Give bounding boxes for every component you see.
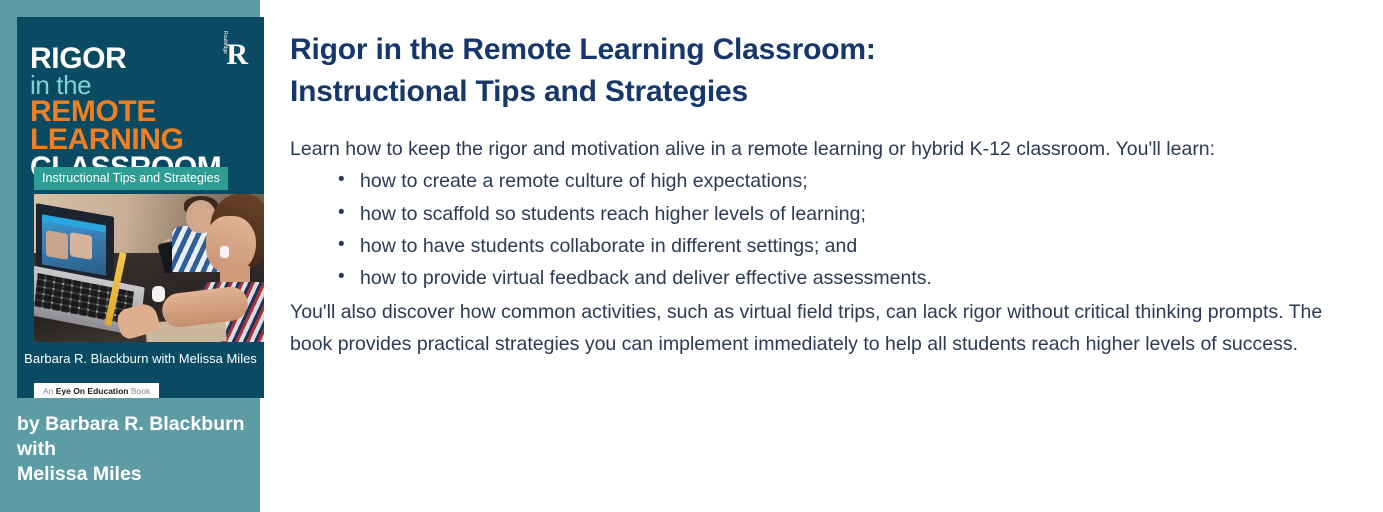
photo-loose-earbud bbox=[152, 286, 165, 302]
photo-girl-earbud bbox=[220, 246, 229, 258]
book-cover-image: R Routledge RIGOR in the REMOTE LEARNING… bbox=[17, 17, 264, 398]
cover-title-block: RIGOR in the REMOTE LEARNING CLASSROOM bbox=[30, 45, 256, 182]
cover-title-line-4: LEARNING bbox=[30, 126, 256, 154]
cover-subtitle-band: Instructional Tips and Strategies bbox=[34, 167, 228, 190]
page-title-line-1: Rigor in the Remote Learning Classroom: bbox=[290, 29, 1360, 71]
panel-author-credit: by Barbara R. Blackburn with Melissa Mil… bbox=[17, 412, 257, 487]
list-item: how to provide virtual feedback and deli… bbox=[338, 262, 1360, 294]
book-description-content: Rigor in the Remote Learning Classroom: … bbox=[290, 0, 1360, 512]
page-title-line-2: Instructional Tips and Strategies bbox=[290, 71, 1360, 113]
learning-outcomes-list: how to create a remote culture of high e… bbox=[290, 165, 1360, 294]
badge-prefix: An bbox=[43, 386, 56, 396]
cover-author-line: Barbara R. Blackburn with Melissa Miles bbox=[17, 351, 264, 366]
page-title: Rigor in the Remote Learning Classroom: … bbox=[290, 0, 1360, 113]
photo-call-participant-a bbox=[46, 230, 68, 260]
badge-suffix: Book bbox=[129, 386, 151, 396]
eye-on-education-badge: An Eye On Education Book bbox=[34, 383, 159, 398]
cover-title-line-1: RIGOR bbox=[30, 45, 256, 73]
intro-paragraph: Learn how to keep the rigor and motivati… bbox=[290, 113, 1360, 165]
cover-title-line-2: in the bbox=[30, 73, 256, 97]
badge-brand: Eye On Education bbox=[56, 386, 129, 396]
list-item: how to scaffold so students reach higher… bbox=[338, 198, 1360, 230]
list-item: how to have students collaborate in diff… bbox=[338, 230, 1360, 262]
cover-title-line-3: REMOTE bbox=[30, 98, 256, 126]
photo-call-participant-b bbox=[70, 232, 92, 260]
left-teal-panel: R Routledge RIGOR in the REMOTE LEARNING… bbox=[0, 0, 260, 512]
outro-paragraph: You'll also discover how common activiti… bbox=[290, 295, 1360, 361]
cover-photograph bbox=[34, 194, 264, 342]
panel-credit-line-2: with bbox=[17, 437, 257, 462]
list-item: how to create a remote culture of high e… bbox=[338, 165, 1360, 197]
panel-credit-line-1: by Barbara R. Blackburn bbox=[17, 412, 257, 437]
panel-credit-line-3: Melissa Miles bbox=[17, 462, 257, 487]
